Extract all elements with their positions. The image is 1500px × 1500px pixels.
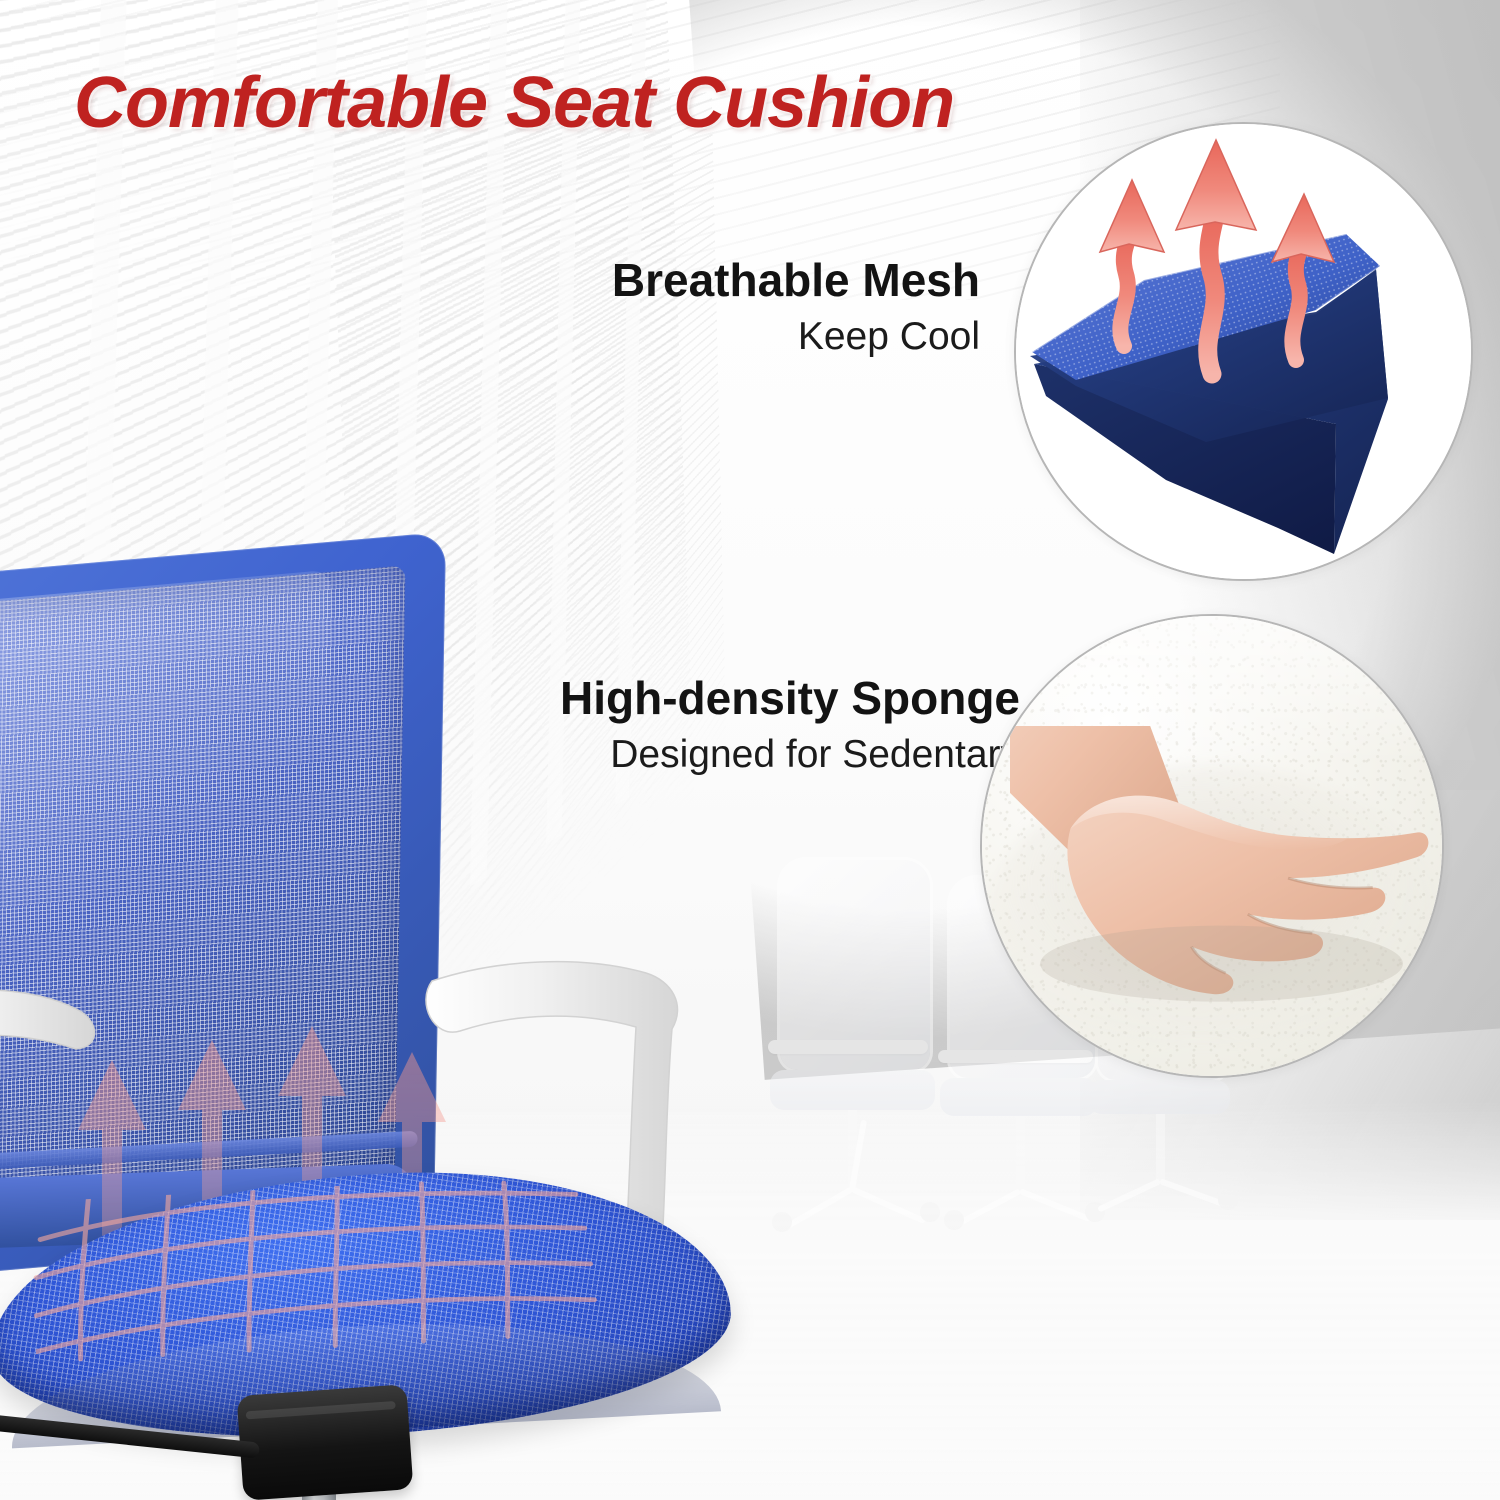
backrest-highlight: [0, 570, 331, 952]
high-density-sponge-inset: [980, 614, 1444, 1078]
feature-title: Breathable Mesh: [612, 256, 980, 304]
breathable-mesh-inset: [1014, 122, 1473, 581]
hand-icon: [1010, 726, 1433, 1011]
tilt-tension-knob: [237, 1384, 414, 1500]
feature-breathable-mesh: Breathable Mesh Keep Cool: [612, 256, 980, 361]
promo-banner: Comfortable Seat Cushion Breathable Mesh…: [0, 0, 1500, 1500]
feature-subtitle: Keep Cool: [612, 314, 980, 361]
layered-mesh-fabric-icon: [1016, 124, 1471, 579]
page-title: Comfortable Seat Cushion: [74, 62, 954, 144]
office-chair: [0, 555, 840, 1500]
